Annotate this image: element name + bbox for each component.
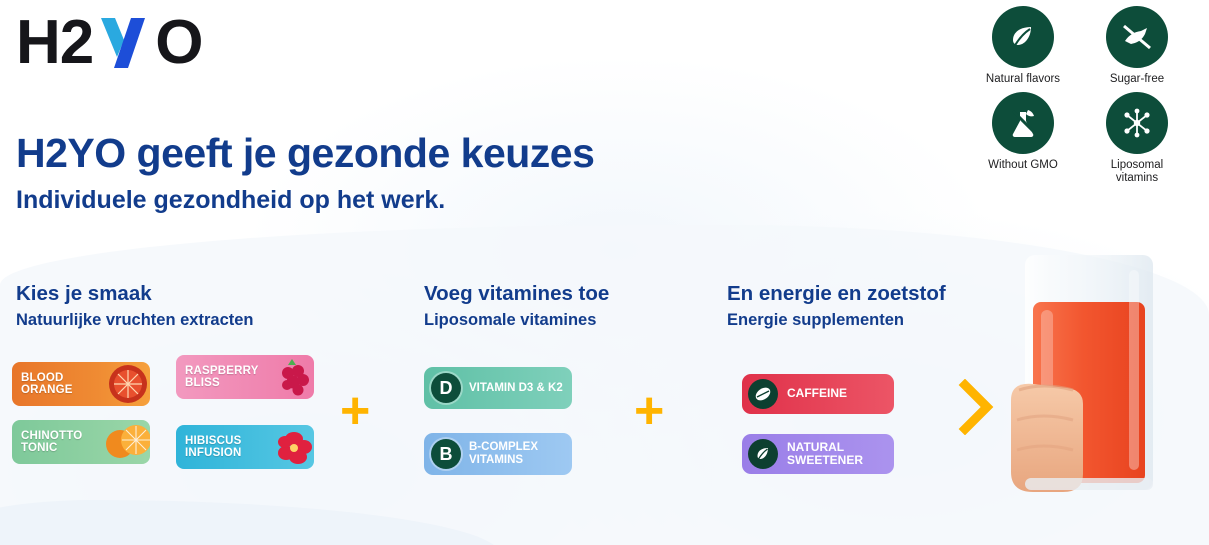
promo-banner: H2 O H2YO geeft je gezonde keuzes Indivi… bbox=[0, 0, 1209, 545]
hibiscus-icon bbox=[262, 425, 314, 469]
energy-label: NATURAL SWEETENER bbox=[787, 441, 894, 467]
vitamin-letter-badge: B bbox=[431, 439, 461, 469]
logo-text-o: O bbox=[155, 12, 202, 74]
badge-liposomal-vitamins: Liposomal vitamins bbox=[1089, 92, 1185, 185]
plus-separator-1: + bbox=[340, 385, 370, 437]
brand-logo[interactable]: H2 O bbox=[16, 12, 203, 74]
flavour-label: BLOOD ORANGE bbox=[12, 372, 104, 397]
feature-badges: Natural flavors Sugar-free Without GMO bbox=[975, 6, 1200, 186]
vitamin-letter-badge: D bbox=[431, 373, 461, 403]
vitamin-pill-d3-k2[interactable]: D VITAMIN D3 & K2 bbox=[424, 367, 572, 409]
product-glass-image bbox=[989, 250, 1209, 545]
vitamin-label: VITAMIN D3 & K2 bbox=[469, 382, 563, 395]
badge-caption: Natural flavors bbox=[975, 73, 1071, 86]
chinotto-orange-icon bbox=[98, 420, 150, 464]
column-subtitle-vitamins: Liposomale vitamines bbox=[424, 311, 596, 330]
flavour-tile-blood-orange[interactable]: BLOOD ORANGE bbox=[12, 362, 150, 406]
column-subtitle-flavours: Natuurlijke vruchten extracten bbox=[16, 311, 254, 330]
energy-pill-caffeine[interactable]: CAFFEINE bbox=[742, 374, 894, 414]
logo-y-mark bbox=[93, 12, 155, 74]
vitamin-pill-b-complex[interactable]: B B-COMPLEX VITAMINS bbox=[424, 433, 572, 475]
flavour-tile-chinotto-tonic[interactable]: CHINOTTO TONIC bbox=[12, 420, 150, 464]
no-gmo-flask-icon bbox=[992, 92, 1054, 154]
leaf-icon bbox=[748, 439, 778, 469]
flavour-tile-raspberry-bliss[interactable]: RASPBERRY BLISS bbox=[176, 355, 314, 399]
badge-caption: Without GMO bbox=[975, 159, 1071, 172]
badge-caption: Liposomal vitamins bbox=[1089, 159, 1185, 185]
flavour-tile-hibiscus-infusion[interactable]: HIBISCUS INFUSION bbox=[176, 425, 314, 469]
badge-sugar-free: Sugar-free bbox=[1089, 6, 1185, 86]
flavour-label: CHINOTTO TONIC bbox=[12, 430, 104, 455]
coffee-bean-icon bbox=[748, 379, 778, 409]
badge-caption: Sugar-free bbox=[1089, 73, 1185, 86]
energy-pill-natural-sweetener[interactable]: NATURAL SWEETENER bbox=[742, 434, 894, 474]
badge-natural-flavors: Natural flavors bbox=[975, 6, 1071, 86]
page-title: H2YO geeft je gezonde keuzes bbox=[16, 130, 594, 177]
vitamin-label: B-COMPLEX VITAMINS bbox=[469, 441, 572, 466]
badge-without-gmo: Without GMO bbox=[975, 92, 1071, 185]
flavour-label: HIBISCUS INFUSION bbox=[176, 435, 268, 460]
flavour-label: RASPBERRY BLISS bbox=[176, 365, 268, 390]
column-subtitle-energy: Energie supplementen bbox=[727, 311, 904, 330]
page-subtitle: Individuele gezondheid op het werk. bbox=[16, 186, 445, 215]
no-sugar-icon bbox=[1106, 6, 1168, 68]
blood-orange-icon bbox=[98, 362, 150, 406]
column-title-flavours: Kies je smaak bbox=[16, 282, 152, 306]
raspberry-icon bbox=[262, 355, 314, 399]
column-title-energy: En energie en zoetstof bbox=[727, 282, 946, 306]
plus-separator-2: + bbox=[634, 385, 664, 437]
molecule-icon bbox=[1106, 92, 1168, 154]
column-title-vitamins: Voeg vitamines toe bbox=[424, 282, 609, 306]
leaf-icon bbox=[992, 6, 1054, 68]
energy-label: CAFFEINE bbox=[787, 387, 847, 400]
logo-text-h2: H2 bbox=[16, 12, 93, 74]
